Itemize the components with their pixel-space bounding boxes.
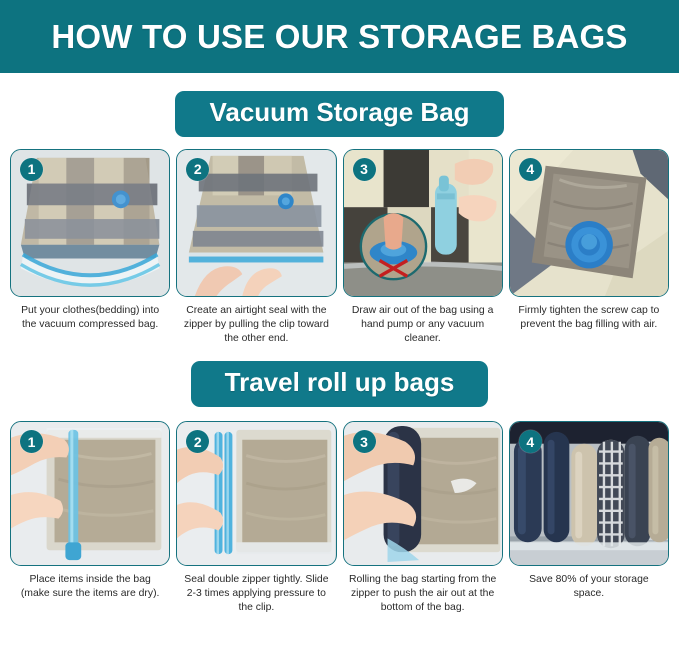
section-title-vacuum-storage-bag-wrap: Vacuum Storage Bag	[0, 91, 679, 137]
step-panel[interactable]: 3	[343, 149, 503, 345]
page-title: HOW TO USE OUR STORAGE BAGS	[51, 18, 627, 56]
step-panel[interactable]: 2 Seal double zi	[176, 421, 336, 614]
step-photo-frame-wrap step-panel[interactable]: 4	[509, 421, 669, 614]
step-photo-frame[interactable]: 4	[509, 149, 669, 297]
step-panel[interactable]: 2 Cre	[176, 149, 336, 345]
step-caption: Create an airtight seal with the zipper …	[176, 297, 336, 345]
step-photo-frame[interactable]: 3	[343, 149, 503, 297]
step-caption: Save 80% of your storage space.	[509, 566, 669, 601]
section-title-vacuum-storage-bag: Vacuum Storage Bag	[175, 91, 503, 137]
steps-row-vacuum-storage-bag: 1	[0, 149, 679, 345]
step-number-badge: 3	[353, 430, 376, 453]
step-number-badge: 2	[186, 158, 209, 181]
step-photo-frame[interactable]: 2	[176, 421, 336, 566]
step-caption: Seal double zipper tightly. Slide 2-3 ti…	[176, 566, 336, 614]
step-caption: Draw air out of the bag using a hand pum…	[343, 297, 503, 345]
section-title-travel-roll-up-bags-wrap: Travel roll up bags	[0, 361, 679, 407]
step-number-badge: 4	[519, 158, 542, 181]
step-number-badge: 1	[20, 158, 43, 181]
step-photo-frame[interactable]: 3	[343, 421, 503, 566]
step-caption: Rolling the bag starting from the zipper…	[343, 566, 503, 614]
step-caption: Firmly tighten the screw cap to prevent …	[509, 297, 669, 332]
step-photo-frame[interactable]: 1	[10, 421, 170, 566]
step-panel[interactable]: 1	[10, 149, 170, 345]
step-panel[interactable]: 4	[509, 149, 669, 345]
step-photo-frame[interactable]: 2	[176, 149, 336, 297]
step-photo-frame[interactable]: 1	[10, 149, 170, 297]
step-number-badge: 3	[353, 158, 376, 181]
step-panel[interactable]: 3 Rolling the bag starting	[343, 421, 503, 614]
section-title-travel-roll-up-bags: Travel roll up bags	[191, 361, 489, 407]
header-banner: HOW TO USE OUR STORAGE BAGS	[0, 0, 679, 73]
step-photo-frame[interactable]: 4	[509, 421, 669, 566]
step-number-badge: 4	[519, 430, 542, 453]
step-caption: Place items inside the bag (make sure th…	[10, 566, 170, 601]
step-panel[interactable]: 1 Place items inside the ba	[10, 421, 170, 614]
step-caption: Put your clothes(bedding) into the vacuu…	[10, 297, 170, 332]
steps-row-travel-roll-up-bags: 1 Place items inside the ba	[0, 421, 679, 614]
